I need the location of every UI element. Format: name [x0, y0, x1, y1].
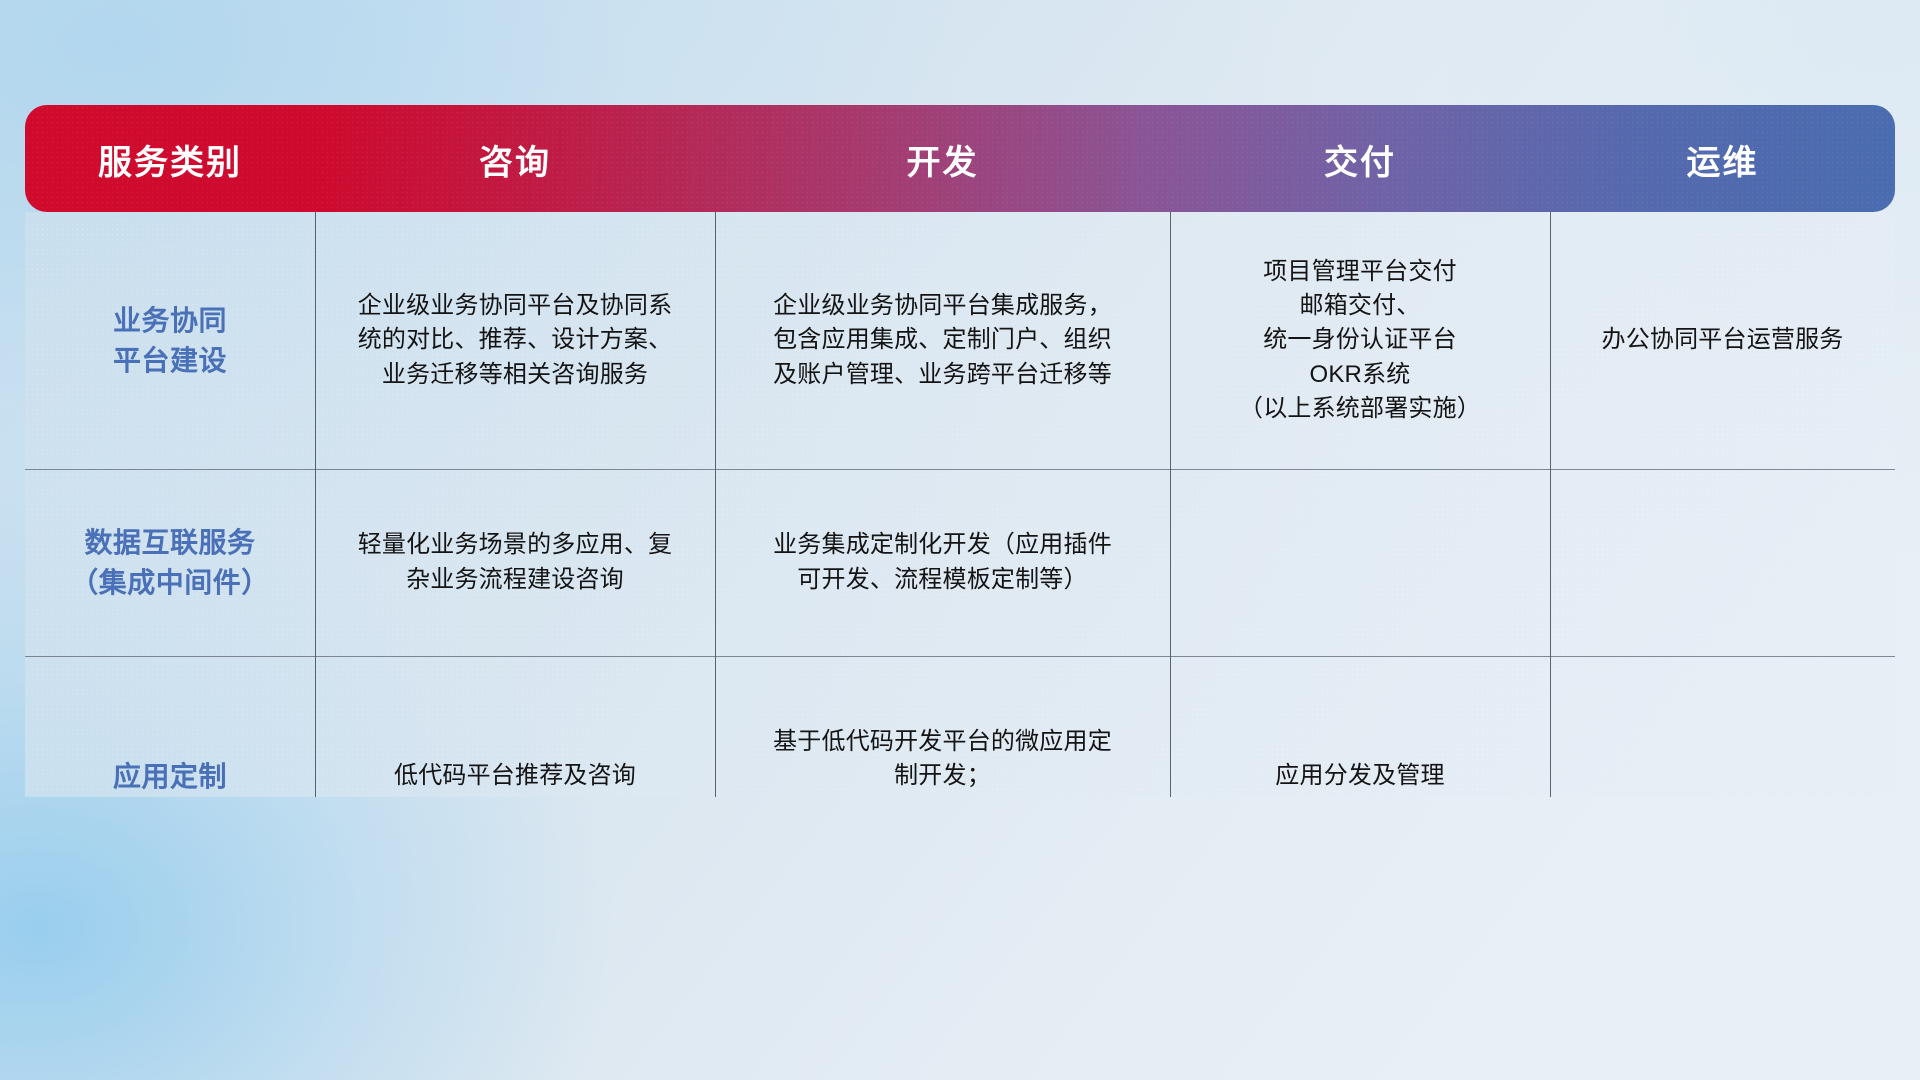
column-divider-3: [1170, 212, 1171, 797]
column-header-delivery: 交付: [1170, 135, 1550, 212]
row-2-development-text: 业务集成定制化开发（应用插件 可开发、流程模板定制等）: [773, 528, 1112, 596]
row-2-delivery-cell: [1170, 469, 1550, 656]
row-1-category-cell: 业务协同 平台建设: [25, 212, 315, 469]
column-header-category: 服务类别: [25, 135, 315, 212]
row-3-delivery-text: 应用分发及管理: [1275, 759, 1444, 793]
row-3-delivery-cell: 应用分发及管理: [1170, 656, 1550, 797]
column-divider-1: [315, 212, 316, 797]
row-1-development-text: 企业级业务协同平台集成服务， 包含应用集成、定制门户、组织 及账户管理、业务跨平…: [773, 289, 1112, 391]
row-1-category-label: 业务协同 平台建设: [113, 301, 227, 381]
column-divider-2: [715, 212, 716, 797]
column-header-consulting: 咨询: [315, 135, 715, 212]
row-2-category-cell: 数据互联服务 （集成中间件）: [25, 469, 315, 656]
table-row: 业务协同 平台建设 企业级业务协同平台及协同系 统的对比、推荐、设计方案、 业务…: [25, 212, 1895, 469]
row-3-development-text: 基于低代码开发平台的微应用定 制开发； 基于通过语言的微应用定制开发: [773, 725, 1112, 797]
row-3-category-label: 应用定制: [113, 757, 227, 797]
row-divider-1: [25, 469, 1895, 470]
table-body: 业务协同 平台建设 企业级业务协同平台及协同系 统的对比、推荐、设计方案、 业务…: [25, 212, 1895, 797]
row-1-delivery-text: 项目管理平台交付 邮箱交付、 统一身份认证平台 OKR系统 （以上系统部署实施）: [1239, 255, 1481, 425]
row-2-development-cell: 业务集成定制化开发（应用插件 可开发、流程模板定制等）: [715, 469, 1170, 656]
table-row: 数据互联服务 （集成中间件） 轻量化业务场景的多应用、复 杂业务流程建设咨询 业…: [25, 469, 1895, 656]
row-3-operations-cell: [1550, 656, 1895, 797]
row-3-consulting-text: 低代码平台推荐及咨询: [394, 759, 636, 793]
row-2-consulting-text: 轻量化业务场景的多应用、复 杂业务流程建设咨询: [358, 528, 673, 596]
row-3-development-cell: 基于低代码开发平台的微应用定 制开发； 基于通过语言的微应用定制开发: [715, 656, 1170, 797]
row-1-consulting-cell: 企业级业务协同平台及协同系 统的对比、推荐、设计方案、 业务迁移等相关咨询服务: [315, 212, 715, 469]
row-2-consulting-cell: 轻量化业务场景的多应用、复 杂业务流程建设咨询: [315, 469, 715, 656]
row-1-consulting-text: 企业级业务协同平台及协同系 统的对比、推荐、设计方案、 业务迁移等相关咨询服务: [358, 289, 673, 391]
column-header-operations: 运维: [1550, 135, 1895, 212]
service-category-table: 服务类别 咨询 开发 交付 运维 业务协同 平台建设 企业级业务协同平台及协同系…: [25, 105, 1895, 797]
row-1-operations-cell: 办公协同平台运营服务: [1550, 212, 1895, 469]
row-2-category-label: 数据互联服务 （集成中间件）: [70, 523, 270, 603]
table-row: 应用定制 低代码平台推荐及咨询 基于低代码开发平台的微应用定 制开发； 基于通过…: [25, 656, 1895, 797]
row-1-delivery-cell: 项目管理平台交付 邮箱交付、 统一身份认证平台 OKR系统 （以上系统部署实施）: [1170, 212, 1550, 469]
row-1-development-cell: 企业级业务协同平台集成服务， 包含应用集成、定制门户、组织 及账户管理、业务跨平…: [715, 212, 1170, 469]
row-1-operations-text: 办公协同平台运营服务: [1602, 323, 1844, 357]
column-header-development: 开发: [715, 135, 1170, 212]
row-3-consulting-cell: 低代码平台推荐及咨询: [315, 656, 715, 797]
row-divider-2: [25, 656, 1895, 657]
row-3-category-cell: 应用定制: [25, 656, 315, 797]
table-header-row: 服务类别 咨询 开发 交付 运维: [25, 105, 1895, 212]
row-2-operations-cell: [1550, 469, 1895, 656]
column-divider-4: [1550, 212, 1551, 797]
